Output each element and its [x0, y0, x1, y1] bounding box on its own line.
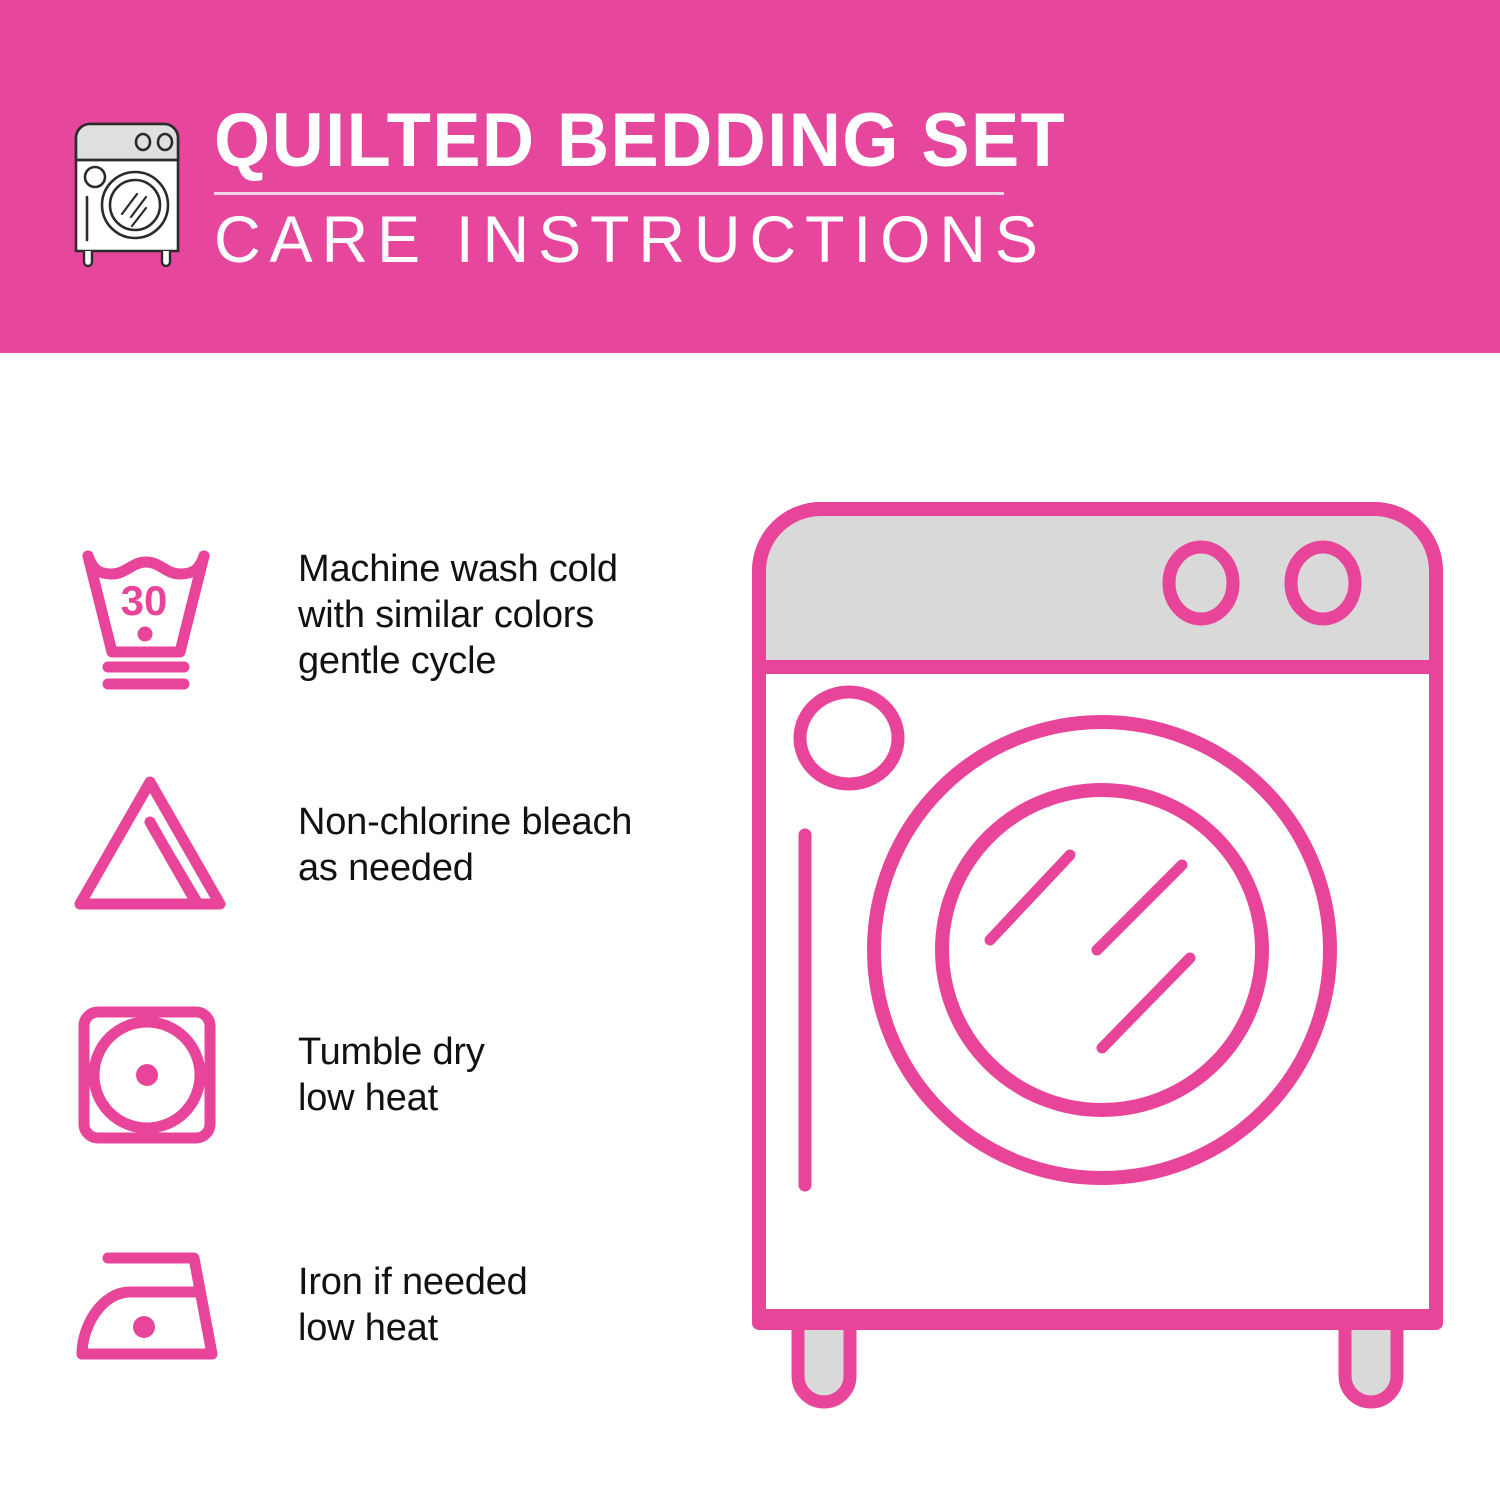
care-instruction-label: Machine wash cold with similar colors ge… [298, 546, 618, 684]
care-instruction-item: Tumble dry low heat [60, 960, 720, 1190]
wash-temperature-value: 30 [121, 577, 168, 624]
care-instruction-label: Tumble dry low heat [298, 1029, 485, 1121]
page-title: QUILTED BEDDING SET [214, 100, 1066, 182]
washing-machine-illustration [745, 495, 1445, 1425]
iron-icon [60, 1220, 260, 1390]
care-instruction-list: 30 Machine wash cold with similar colors… [60, 500, 720, 1420]
care-instruction-item: Iron if needed low heat [60, 1190, 720, 1420]
care-instruction-label: Iron if needed low heat [298, 1259, 528, 1351]
care-instruction-label: Non-chlorine bleach as needed [298, 799, 632, 891]
washing-machine-icon [62, 106, 192, 266]
header-band: QUILTED BEDDING SET CARE INSTRUCTIONS [0, 0, 1500, 353]
header-content: QUILTED BEDDING SET CARE INSTRUCTIONS [62, 100, 1111, 275]
machine-control-panel [759, 509, 1436, 667]
wash-tub-30-icon: 30 [60, 530, 260, 700]
title-divider [214, 192, 1004, 195]
page-subtitle: CARE INSTRUCTIONS [214, 203, 1093, 275]
tumble-dry-square-icon [60, 990, 260, 1160]
care-instruction-item: 30 Machine wash cold with similar colors… [60, 500, 720, 730]
bleach-triangle-icon [60, 760, 260, 930]
header-title-block: QUILTED BEDDING SET CARE INSTRUCTIONS [214, 100, 1111, 275]
care-instruction-item: Non-chlorine bleach as needed [60, 730, 720, 960]
